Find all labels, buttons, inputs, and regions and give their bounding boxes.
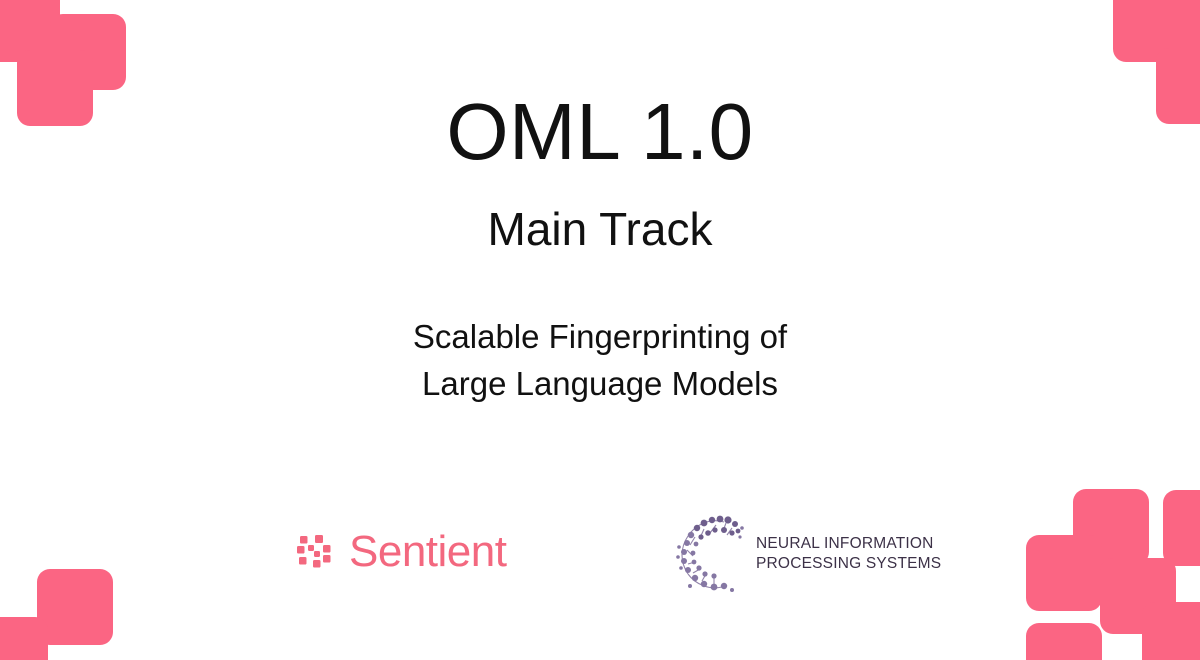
neurips-neuron-spiral-icon: [666, 506, 752, 600]
logo-row: Sentient: [0, 498, 1200, 608]
neurips-logo: NEURAL INFORMATION PROCESSING SYSTEMS: [666, 506, 941, 600]
neurips-wordmark-line-2: PROCESSING SYSTEMS: [756, 554, 941, 574]
sentient-pixel-ring-icon: [296, 534, 332, 570]
neurips-wordmark-line-1: NEURAL INFORMATION: [756, 534, 941, 554]
paper-title-line-1: Scalable Fingerprinting of: [413, 314, 787, 361]
presentation-slide: OML 1.0 Main Track Scalable Fingerprinti…: [0, 0, 1200, 660]
page-title: OML 1.0: [446, 92, 753, 172]
track-subtitle: Main Track: [488, 206, 713, 252]
sentient-logo: Sentient: [296, 530, 506, 574]
sentient-wordmark: Sentient: [349, 530, 506, 574]
neurips-wordmark: NEURAL INFORMATION PROCESSING SYSTEMS: [756, 534, 941, 573]
paper-title: Scalable Fingerprinting of Large Languag…: [413, 314, 787, 408]
paper-title-line-2: Large Language Models: [413, 361, 787, 408]
